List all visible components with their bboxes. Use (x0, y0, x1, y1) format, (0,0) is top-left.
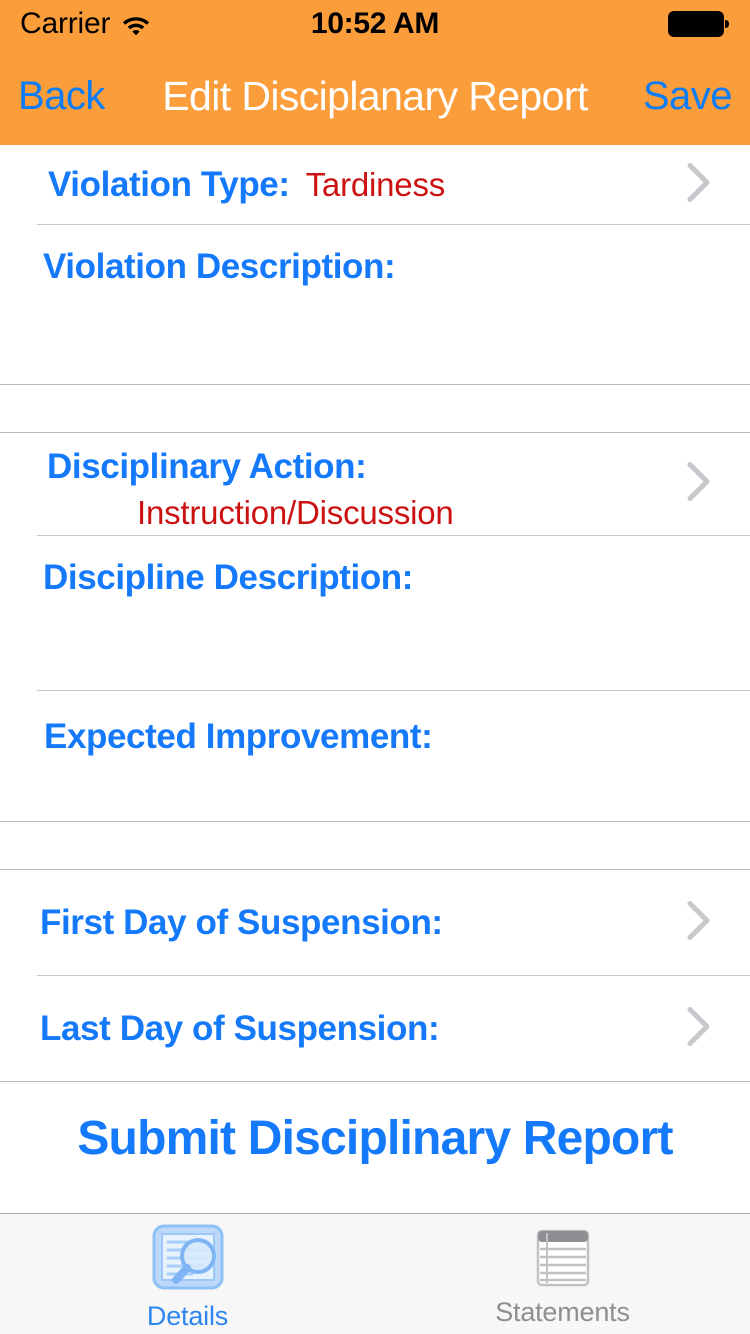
navigation-bar: Back Edit Disciplanary Report Save (0, 48, 750, 145)
chevron-right-icon (686, 161, 712, 208)
back-button[interactable]: Back (18, 74, 105, 119)
chevron-right-icon (686, 1005, 712, 1052)
chevron-right-icon (686, 899, 712, 946)
tab-details[interactable]: Details (0, 1214, 375, 1334)
discipline-description-label: Discipline Description: (43, 558, 413, 597)
tab-statements[interactable]: Statements (375, 1214, 750, 1334)
section-gap (0, 822, 750, 869)
section-discipline: Disciplinary Action: Instruction/Discuss… (0, 433, 750, 821)
submit-button-label: Submit Disciplinary Report (77, 1111, 672, 1166)
form-table: Violation Type: Tardiness Violation Desc… (0, 145, 750, 1213)
row-first-day-of-suspension[interactable]: First Day of Suspension: (0, 870, 750, 975)
violation-type-label: Violation Type: (48, 165, 290, 205)
status-bar: Carrier 10:52 AM (0, 0, 750, 48)
document-magnifier-icon (148, 1223, 228, 1295)
last-day-of-suspension-label: Last Day of Suspension: (40, 1009, 439, 1049)
row-expected-improvement[interactable]: Expected Improvement: (0, 691, 750, 821)
row-violation-description[interactable]: Violation Description: (0, 225, 750, 384)
tab-bar: Details Statements (0, 1213, 750, 1334)
disciplinary-action-value: Instruction/Discussion (137, 494, 750, 532)
notepad-lines-icon (534, 1227, 592, 1291)
row-last-day-of-suspension[interactable]: Last Day of Suspension: (0, 976, 750, 1081)
section-gap (0, 385, 750, 432)
expected-improvement-label: Expected Improvement: (44, 717, 432, 756)
violation-type-value: Tardiness (306, 166, 445, 204)
submit-disciplinary-report-button[interactable]: Submit Disciplinary Report (0, 1082, 750, 1194)
battery-full-icon (668, 10, 730, 38)
section-violation: Violation Type: Tardiness Violation Desc… (0, 145, 750, 384)
tab-details-label: Details (147, 1301, 228, 1332)
tab-statements-label: Statements (495, 1297, 630, 1328)
chevron-right-icon (686, 461, 712, 508)
section-suspension: First Day of Suspension: Last Day of Sus… (0, 870, 750, 1081)
first-day-of-suspension-label: First Day of Suspension: (40, 903, 443, 943)
page-title: Edit Disciplanary Report (0, 73, 750, 120)
violation-description-label: Violation Description: (43, 247, 395, 286)
status-bar-right (668, 10, 730, 38)
save-button[interactable]: Save (643, 74, 732, 119)
disciplinary-action-label: Disciplinary Action: (47, 447, 366, 486)
row-violation-type[interactable]: Violation Type: Tardiness (0, 145, 750, 224)
row-disciplinary-action[interactable]: Disciplinary Action: Instruction/Discuss… (0, 433, 750, 535)
row-discipline-description[interactable]: Discipline Description: (0, 536, 750, 690)
status-bar-time: 10:52 AM (0, 7, 750, 41)
